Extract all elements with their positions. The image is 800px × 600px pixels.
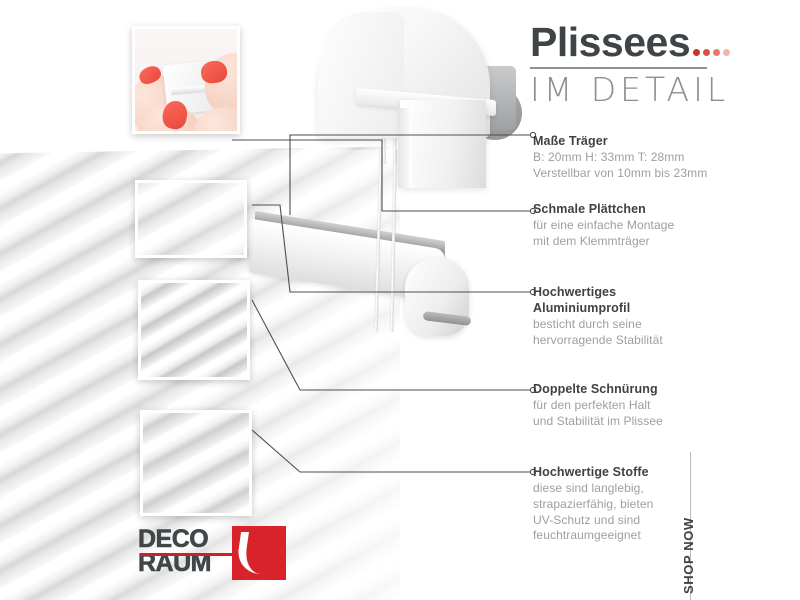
feature-description: besticht durch seinehervorragende Stabil… [533,317,783,349]
feature-title: HochwertigesAluminiumprofil [533,284,783,316]
feature-title: Maße Träger [533,133,783,149]
feature-schmale-plaettchen: Schmale Plättchenfür eine einfache Monta… [533,201,783,250]
feature-description: für eine einfache Montagemit dem Klemmtr… [533,218,783,250]
title-dots [693,49,730,56]
title-underline [530,67,707,69]
connector-doppelte-schnuerung [252,300,533,390]
page-subtitle: IM DETAIL [530,73,780,108]
logo-red-square-icon [232,526,286,580]
title-dot-1 [693,49,700,56]
connector-schmale-plaettchen [232,140,533,211]
feature-title: Hochwertige Stoffe [533,464,783,480]
logo-curve-glyph [235,532,281,574]
feature-aluminiumprofil: HochwertigesAluminiumprofilbesticht durc… [533,284,783,349]
connector-hochwertige-stoffe [252,430,533,472]
shop-now-label[interactable]: SHOP NOW [681,517,696,594]
logo-wordmark: DECO RAUM [138,527,211,575]
connector-masse-traeger [290,135,533,215]
title-dot-2 [703,49,710,56]
feature-title: Doppelte Schnürung [533,381,783,397]
feature-description: diese sind langlebig,strapazierfähig, bi… [533,481,783,544]
title-dot-3 [713,49,720,56]
feature-title: Schmale Plättchen [533,201,783,217]
page-title: Plissees [530,22,690,63]
logo-line-1: DECO [138,527,211,551]
feature-doppelte-schnuerung: Doppelte Schnürungfür den perfekten Halt… [533,381,783,430]
infographic-canvas: Plissees IM DETAIL Maße TrägerB: 20mm H:… [0,0,800,600]
logo-red-bar [140,553,232,556]
header: Plissees IM DETAIL [530,22,780,108]
feature-hochwertige-stoffe: Hochwertige Stoffediese sind langlebig,s… [533,464,783,544]
feature-description: B: 20mm H: 33mm T: 28mmVerstellbar von 1… [533,150,783,182]
feature-description: für den perfekten Haltund Stabilität im … [533,398,783,430]
connector-aluminiumprofil [252,205,533,292]
title-row: Plissees [530,22,780,63]
deco-raum-logo[interactable]: DECO RAUM [138,527,286,583]
title-dot-4 [723,49,730,56]
feature-masse-traeger: Maße TrägerB: 20mm H: 33mm T: 28mmVerste… [533,133,783,182]
